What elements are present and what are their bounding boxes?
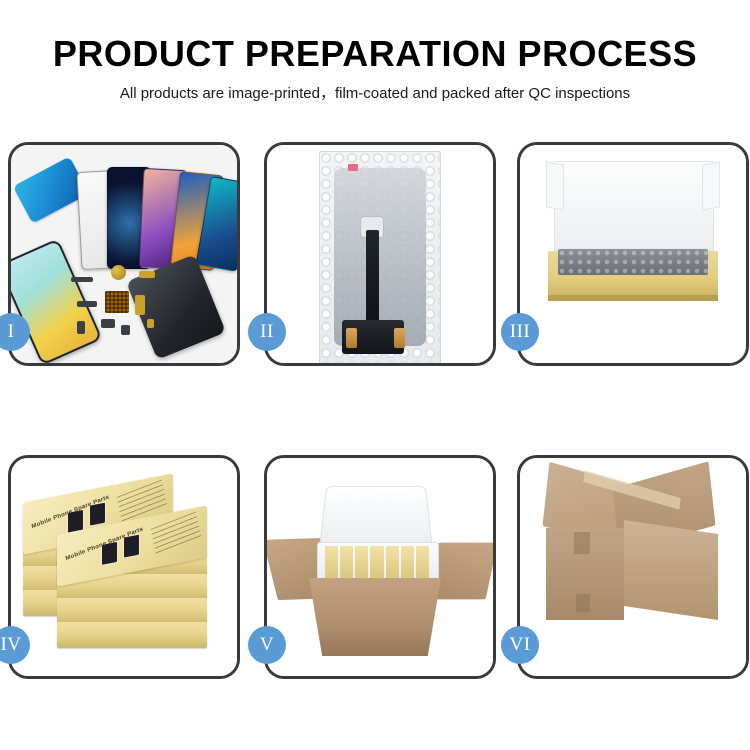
part-module-icon — [101, 319, 115, 328]
step-3-image — [520, 145, 746, 363]
step-5-image — [267, 458, 493, 676]
carton-body-icon — [309, 578, 441, 656]
process-step-panel-3: III — [517, 142, 749, 366]
part-ic-chip-icon — [105, 291, 129, 313]
part-button-icon — [121, 325, 130, 335]
retail-box-icon — [370, 546, 383, 580]
retail-box-icon — [325, 546, 338, 580]
scene-screen-in-bubble-wrap-bag — [267, 145, 493, 363]
process-step-panel-6: VI — [517, 455, 749, 679]
step-2-image — [267, 145, 493, 363]
lid-flap-left-icon — [546, 161, 564, 210]
page-title: PRODUCT PREPARATION PROCESS — [0, 36, 750, 72]
step-badge-6: VI — [501, 626, 539, 664]
white-foam-lid-icon — [554, 161, 714, 259]
part-flex-icon — [139, 271, 155, 278]
gold-tab-icon — [394, 328, 405, 348]
box-print-text-lines — [151, 511, 201, 555]
step-1-image — [11, 145, 237, 363]
retail-box-icon — [386, 546, 399, 580]
retail-box-icon — [57, 622, 207, 648]
flex-cable-icon — [366, 230, 379, 326]
carton-seam-icon — [574, 532, 590, 554]
part-gold-flex-icon — [135, 295, 145, 315]
step-badge-5: V — [248, 626, 286, 664]
process-step-panel-5: V — [264, 455, 496, 679]
process-step-panel-2: II — [264, 142, 496, 366]
process-step-panel-4: Mobile Phone Spare Parts Mobile Phone Sp… — [8, 455, 240, 679]
pink-label-sticker-icon — [348, 164, 358, 171]
part-screw-icon — [147, 319, 154, 328]
part-camera-icon — [77, 321, 85, 334]
spare-parts-cluster — [71, 263, 191, 353]
part-strip-icon — [71, 277, 93, 282]
scene-stack-of-yellow-retail-boxes: Mobile Phone Spare Parts Mobile Phone Sp… — [11, 458, 237, 676]
tray-front-edge-icon — [548, 295, 718, 301]
part-speaker-icon — [111, 265, 126, 280]
carton-seam-icon — [576, 594, 590, 612]
process-step-grid: I II — [8, 142, 745, 685]
step-4-image: Mobile Phone Spare Parts Mobile Phone Sp… — [11, 458, 237, 676]
step-badge-2: II — [248, 313, 286, 351]
process-step-panel-1: I — [8, 142, 240, 366]
scene-carton-with-foam-liner-and-boxes — [267, 458, 493, 676]
box-stack: Mobile Phone Spare Parts Mobile Phone Sp… — [23, 476, 229, 662]
retail-box-icon — [355, 546, 368, 580]
retail-box-icon — [340, 546, 353, 580]
lid-flap-right-icon — [702, 161, 720, 210]
scene-phone-screens-and-spare-parts — [11, 145, 237, 363]
scene-sealed-shipping-carton — [520, 458, 746, 676]
carton-side-panel-icon — [624, 520, 718, 620]
bubble-wrap-bag-icon — [319, 151, 441, 363]
step-6-image — [520, 458, 746, 676]
foam-lid-icon — [319, 486, 433, 546]
step-badge-3: III — [501, 313, 539, 351]
gold-tab-icon — [346, 328, 357, 348]
phone-screen-fan — [79, 161, 229, 269]
scene-open-yellow-box-with-foam-lid — [520, 145, 746, 363]
page-subtitle: All products are image-printed，film-coat… — [0, 85, 750, 103]
bubble-wrapped-contents-icon — [558, 249, 708, 275]
part-connector-icon — [77, 301, 97, 307]
retail-box-icon — [57, 598, 207, 624]
retail-box-icon — [416, 546, 429, 580]
yellow-boxes-inside — [325, 546, 429, 580]
retail-box-icon — [401, 546, 414, 580]
